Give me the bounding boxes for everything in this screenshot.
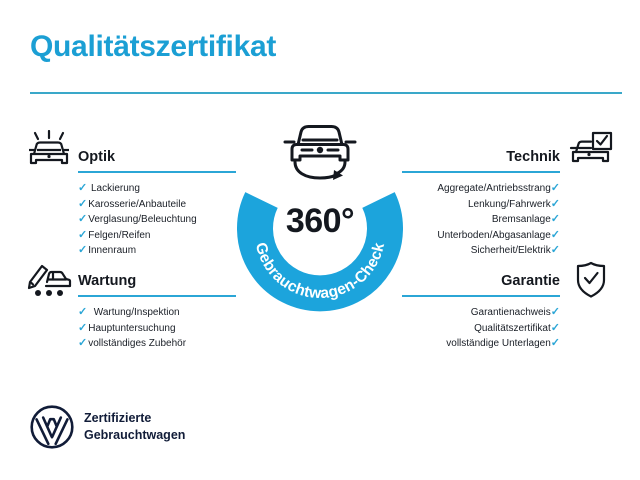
section-heading-wartung: Wartung — [78, 272, 238, 290]
check-icon: ✓ — [551, 322, 560, 334]
car-checkbox-icon — [568, 130, 614, 170]
list-item: vollständige Unterlagen✓ — [400, 336, 560, 352]
section-list-optik: ✓ Lackierung ✓Karosserie/Anbauteile ✓Ver… — [78, 181, 238, 259]
section-heading-technik: Technik — [400, 148, 560, 166]
car-shine-icon — [26, 130, 72, 170]
list-item: Lenkung/Fahrwerk✓ — [400, 197, 560, 213]
footer-line-2: Gebrauchtwagen — [84, 427, 185, 444]
badge-degrees-label: 360° — [237, 202, 403, 241]
list-item: Garantienachweis✓ — [400, 305, 560, 321]
section-optik: Optik ✓ Lackierung ✓Karosserie/Anbauteil… — [78, 148, 238, 259]
list-item-label: Qualitätszertifikat — [474, 323, 551, 334]
section-list-wartung: ✓ Wartung/Inspektion ✓Hauptuntersuchung … — [78, 305, 238, 352]
check-icon: ✓ — [551, 229, 560, 241]
check-icon: ✓ — [78, 213, 87, 225]
list-item-label: Garantienachweis — [471, 307, 551, 318]
check-icon: ✓ — [78, 337, 87, 349]
section-underline-garantie — [402, 295, 560, 297]
title-divider — [30, 92, 622, 94]
volkswagen-logo — [30, 405, 74, 449]
list-item-label: Wartung/Inspektion — [94, 307, 180, 318]
list-item-label: Bremsanlage — [492, 214, 551, 225]
section-wartung: Wartung ✓ Wartung/Inspektion ✓Hauptunter… — [78, 272, 238, 352]
check-icon: ✓ — [551, 337, 560, 349]
list-item: ✓ Wartung/Inspektion — [78, 305, 238, 321]
footer-brand-text: Zertifizierte Gebrauchtwagen — [84, 410, 185, 444]
list-item: ✓Felgen/Reifen — [78, 228, 238, 244]
certificate-page: Qualitätszertifikat Optik ✓ Lackierung ✓… — [0, 0, 640, 480]
list-item-label: Unterboden/Abgasanlage — [437, 230, 550, 241]
list-item-label: vollständiges Zubehör — [88, 338, 186, 349]
section-heading-optik: Optik — [78, 148, 238, 166]
list-item: Aggregate/Antriebsstrang✓ — [400, 181, 560, 197]
section-underline-technik — [402, 171, 560, 173]
list-item: ✓Innenraum — [78, 243, 238, 259]
check-icon: ✓ — [78, 322, 87, 334]
section-list-garantie: Garantienachweis✓ Qualitätszertifikat✓ v… — [400, 305, 560, 352]
check-icon: ✓ — [551, 244, 560, 256]
list-item: Unterboden/Abgasanlage✓ — [400, 228, 560, 244]
list-item-label: Lenkung/Fahrwerk — [468, 199, 551, 210]
section-technik: Technik Aggregate/Antriebsstrang✓ Lenkun… — [400, 148, 560, 259]
shield-check-icon — [568, 260, 614, 300]
check-icon: ✓ — [78, 244, 87, 256]
list-item: ✓Hauptuntersuchung — [78, 321, 238, 337]
check-icon: ✓ — [78, 229, 87, 241]
list-item-label: Innenraum — [88, 245, 136, 256]
list-item: ✓ Lackierung — [78, 181, 238, 197]
section-heading-garantie: Garantie — [400, 272, 560, 290]
list-item-label: Aggregate/Antriebsstrang — [437, 183, 550, 194]
360-check-badge: Gebrauchtwagen-Check 360° — [237, 150, 403, 316]
page-title: Qualitätszertifikat — [30, 30, 276, 64]
list-item-label: Verglasung/Beleuchtung — [88, 214, 196, 225]
footer-line-1: Zertifizierte — [84, 410, 185, 427]
list-item-label: vollständige Unterlagen — [446, 338, 551, 349]
check-icon: ✓ — [78, 198, 87, 210]
list-item-label: Lackierung — [91, 183, 140, 194]
list-item: ✓Verglasung/Beleuchtung — [78, 212, 238, 228]
list-item-label: Sicherheit/Elektrik — [471, 245, 551, 256]
list-item: ✓vollständiges Zubehör — [78, 336, 238, 352]
car-front-rotation-icon — [271, 116, 369, 188]
list-item-label: Felgen/Reifen — [88, 230, 150, 241]
list-item: Sicherheit/Elektrik✓ — [400, 243, 560, 259]
section-list-technik: Aggregate/Antriebsstrang✓ Lenkung/Fahrwe… — [400, 181, 560, 259]
list-item: Qualitätszertifikat✓ — [400, 321, 560, 337]
list-item-label: Karosserie/Anbauteile — [88, 199, 186, 210]
check-icon: ✓ — [551, 182, 560, 194]
section-underline-optik — [78, 171, 236, 173]
check-icon: ✓ — [78, 182, 87, 194]
list-item: ✓Karosserie/Anbauteile — [78, 197, 238, 213]
list-item-label: Hauptuntersuchung — [88, 323, 175, 334]
section-garantie: Garantie Garantienachweis✓ Qualitätszert… — [400, 272, 560, 352]
check-icon: ✓ — [78, 306, 87, 318]
service-pen-car-icon — [26, 260, 72, 300]
section-underline-wartung — [78, 295, 236, 297]
check-icon: ✓ — [551, 306, 560, 318]
list-item: Bremsanlage✓ — [400, 212, 560, 228]
check-icon: ✓ — [551, 213, 560, 225]
check-icon: ✓ — [551, 198, 560, 210]
